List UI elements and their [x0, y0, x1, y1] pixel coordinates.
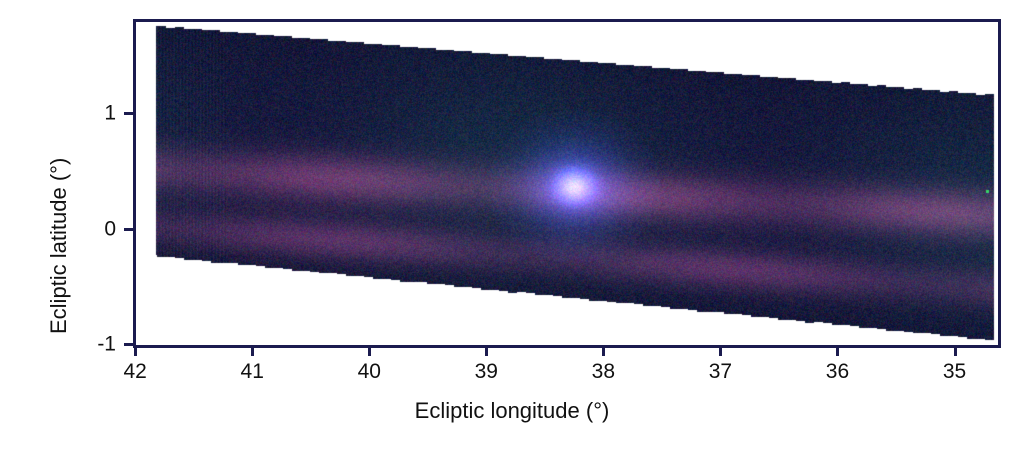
x-tick-label: 38	[592, 361, 615, 382]
y-tick-mark	[124, 112, 134, 115]
x-tick-mark	[368, 346, 371, 356]
x-tick-label: 42	[123, 361, 146, 382]
axis-frame-top	[133, 19, 1001, 22]
x-tick-mark	[836, 346, 839, 356]
x-tick-mark	[485, 346, 488, 356]
y-tick-label: -1	[70, 333, 116, 354]
y-axis-title: Ecliptic latitude (°)	[46, 158, 72, 334]
axis-frame-bottom	[133, 345, 1001, 348]
x-tick-label: 35	[943, 361, 966, 382]
x-tick-label: 37	[709, 361, 732, 382]
sky-map-figure: 4241403938373635 10-1 Ecliptic longitude…	[0, 0, 1024, 469]
x-tick-label: 39	[475, 361, 498, 382]
x-axis-title: Ecliptic longitude (°)	[0, 398, 1024, 424]
x-tick-mark	[954, 346, 957, 356]
axis-frame-right	[998, 19, 1001, 348]
axis-frame-left	[133, 19, 136, 348]
y-tick-label: 0	[70, 218, 116, 239]
x-tick-label: 36	[826, 361, 849, 382]
y-tick-mark	[124, 228, 134, 231]
x-tick-label: 40	[358, 361, 381, 382]
x-tick-mark	[251, 346, 254, 356]
y-tick-label: 1	[70, 103, 116, 124]
x-tick-mark	[719, 346, 722, 356]
x-tick-label: 41	[241, 361, 264, 382]
x-tick-mark	[602, 346, 605, 356]
x-tick-mark	[134, 346, 137, 356]
y-tick-mark	[124, 343, 134, 346]
